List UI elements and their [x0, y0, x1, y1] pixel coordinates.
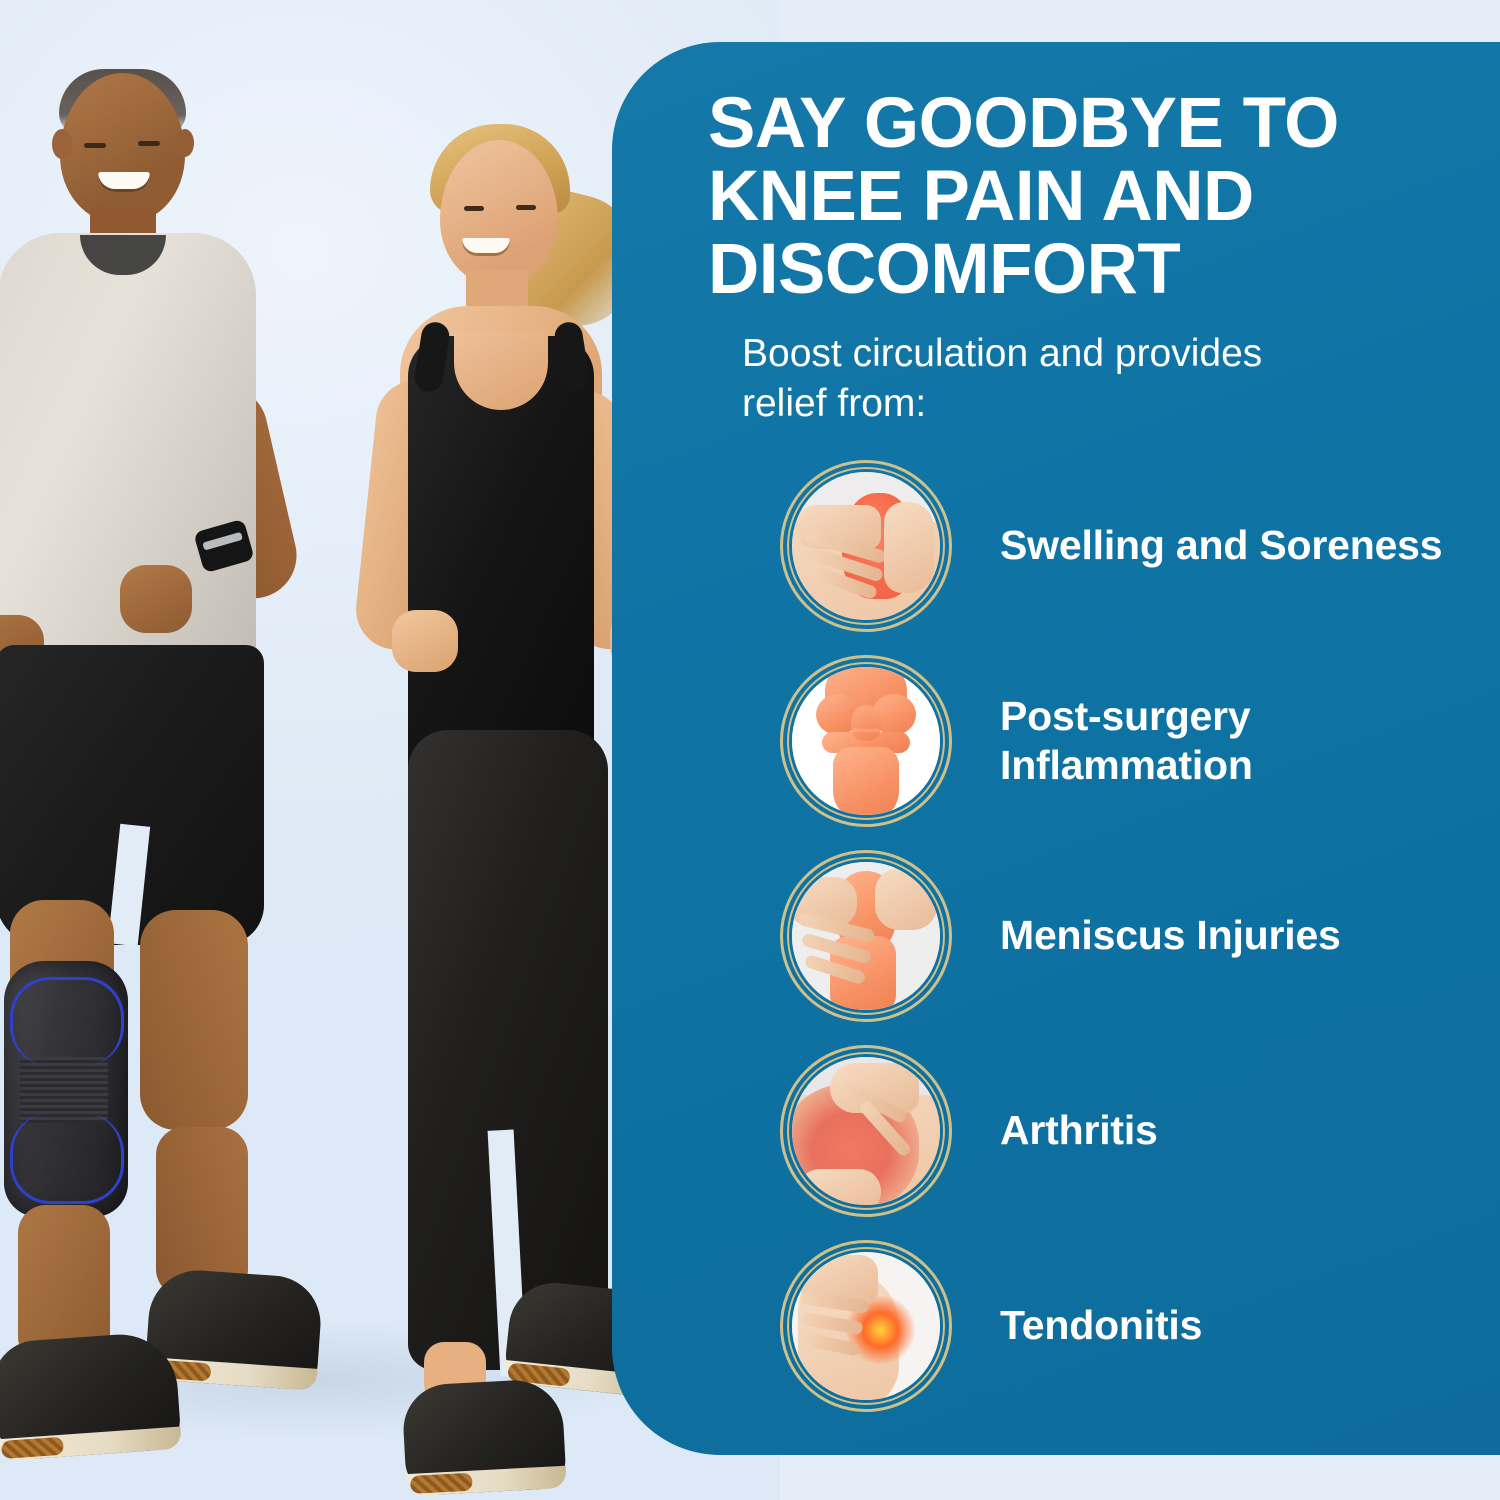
benefit-label: Swelling and Soreness	[1000, 521, 1442, 570]
subheadline: Boost circulation and provides relief fr…	[742, 329, 1302, 428]
woman-shoe-left	[401, 1378, 567, 1496]
man-ear-right	[176, 129, 194, 157]
benefit-item-tendonitis: Tendonitis	[780, 1240, 1480, 1412]
benefit-label: Arthritis	[1000, 1106, 1158, 1155]
knee-swelling-photo-icon	[780, 460, 952, 632]
man-ear-left	[52, 129, 72, 159]
headline: SAY GOODBYE TO KNEE PAIN AND DISCOMFORT	[708, 87, 1460, 306]
woman-eye-left	[464, 206, 484, 211]
benefits-panel: SAY GOODBYE TO KNEE PAIN AND DISCOMFORT …	[612, 42, 1500, 1455]
sleeve-blue-line-bottom	[10, 1113, 124, 1204]
woman-eye-right	[516, 205, 536, 210]
man-eye-right	[138, 141, 160, 146]
promo-canvas: SAY GOODBYE TO KNEE PAIN AND DISCOMFORT …	[0, 0, 1500, 1500]
man-thigh-right	[140, 910, 248, 1130]
benefit-label: Meniscus Injuries	[1000, 911, 1341, 960]
man-eye-left	[84, 143, 106, 148]
benefit-item-swelling: Swelling and Soreness	[780, 460, 1480, 632]
man-jogger-figure	[0, 55, 380, 1445]
sleeve-blue-line-top	[10, 977, 124, 1066]
shoe-tread	[410, 1473, 473, 1494]
woman-leggings	[408, 730, 608, 1370]
benefit-item-post-surgery: Post-surgery Inflammation	[780, 655, 1480, 827]
benefit-item-meniscus: Meniscus Injuries	[780, 850, 1480, 1022]
benefit-label: Tendonitis	[1000, 1301, 1202, 1350]
knee-meniscus-photo-icon	[780, 850, 952, 1022]
benefit-item-arthritis: Arthritis	[780, 1045, 1480, 1217]
knee-compression-sleeve-product	[4, 961, 128, 1217]
man-fist-left	[120, 565, 192, 633]
knee-anatomy-illustration-icon	[780, 655, 952, 827]
woman-fist-left	[392, 610, 458, 672]
woman-smile	[462, 238, 510, 256]
knee-arthritis-photo-icon	[780, 1045, 952, 1217]
man-shoe-left	[0, 1331, 182, 1462]
knee-tendonitis-photo-icon	[780, 1240, 952, 1412]
man-smile	[98, 172, 150, 192]
woman-tank-top	[408, 336, 594, 796]
benefit-label: Post-surgery Inflammation	[1000, 692, 1480, 790]
